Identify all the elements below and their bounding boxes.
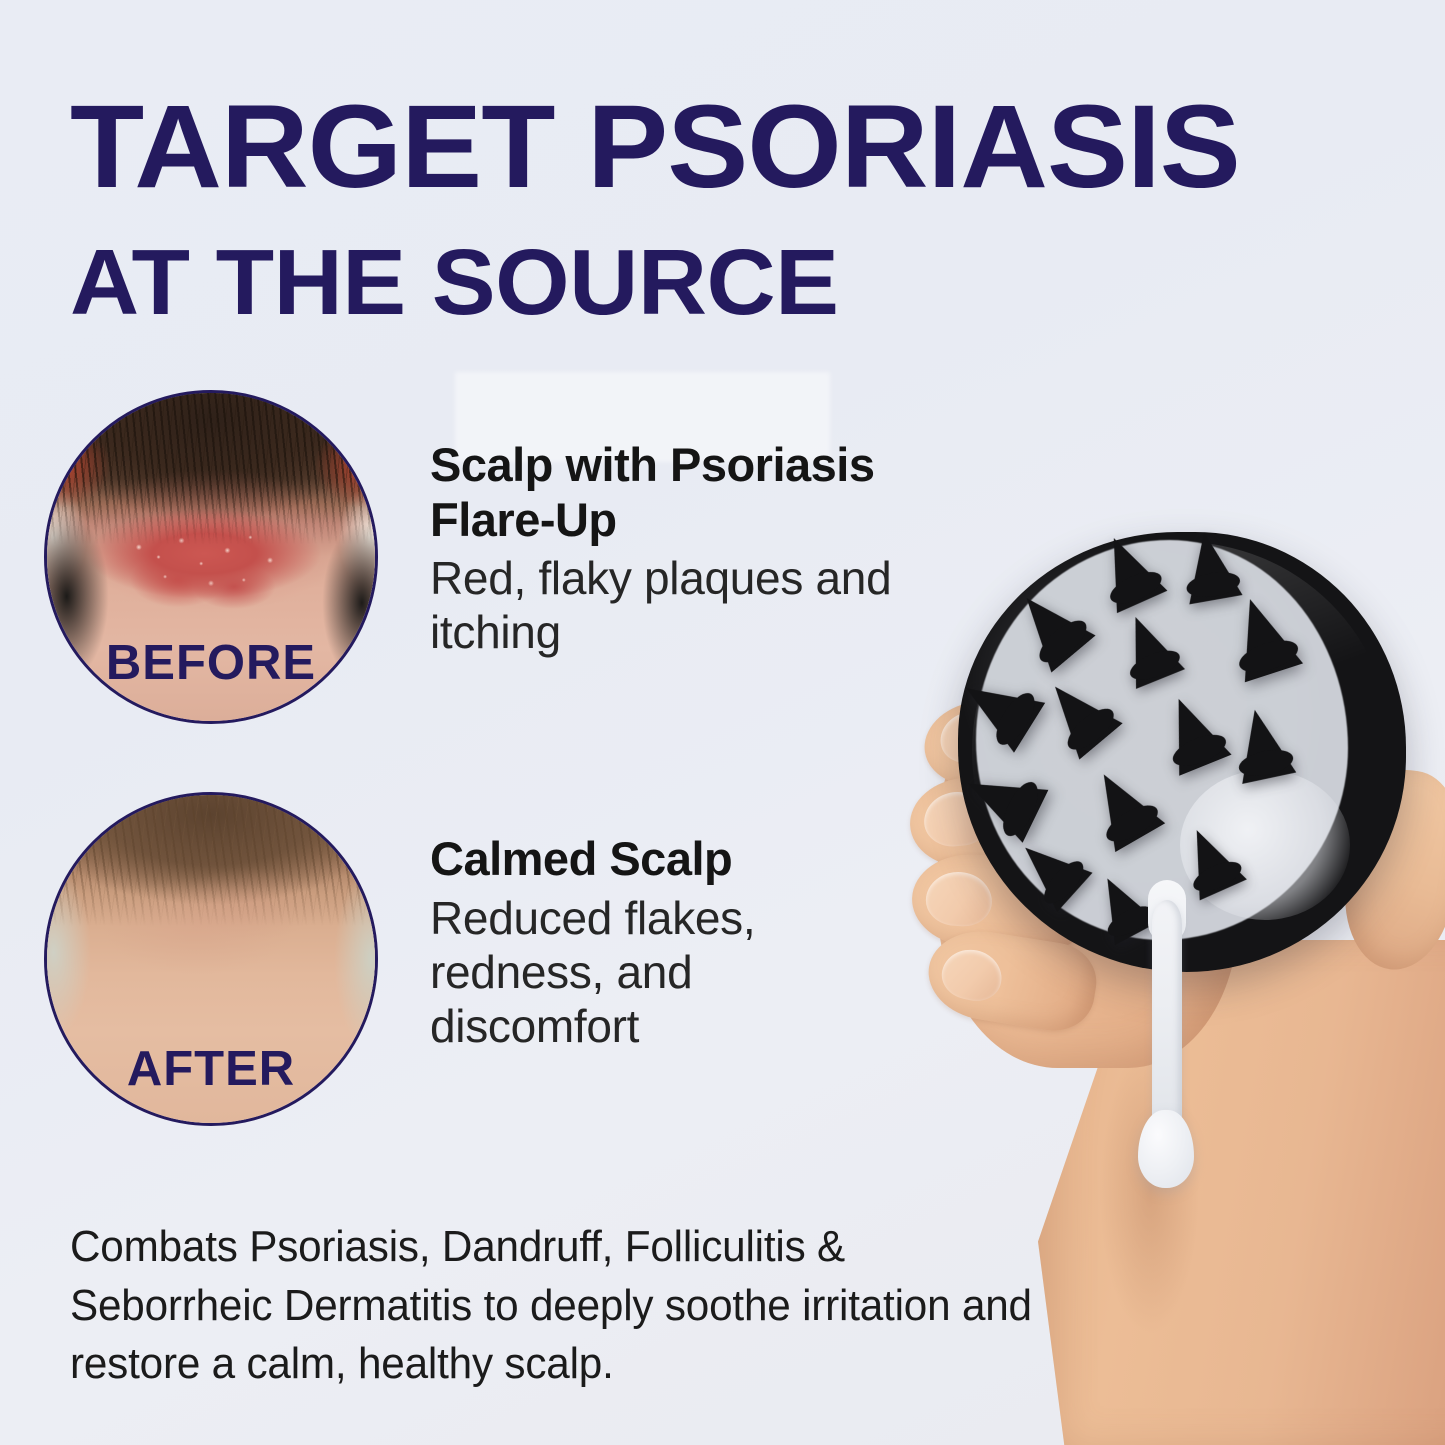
after-photo-circle: AFTER bbox=[44, 792, 378, 1126]
after-copy-body: Reduced flakes, redness, and discomfort bbox=[430, 891, 900, 1054]
after-copy-title: Calmed Scalp bbox=[430, 832, 900, 887]
headline-line-2: AT THE SOURCE bbox=[70, 230, 1430, 334]
before-badge-label: BEFORE bbox=[47, 635, 375, 691]
product-image bbox=[880, 470, 1445, 1445]
foam-drip-droplet bbox=[1138, 1110, 1194, 1188]
brush-bristle bbox=[1177, 528, 1242, 605]
headline: TARGET PSORIASIS AT THE SOURCE bbox=[70, 88, 1390, 334]
after-copy-block: Calmed Scalp Reduced flakes, redness, an… bbox=[430, 832, 900, 1053]
before-photo-circle: BEFORE bbox=[44, 390, 378, 724]
product-marketing-poster: TARGET PSORIASIS AT THE SOURCE BEFORE AF… bbox=[0, 0, 1445, 1445]
headline-line-1: TARGET PSORIASIS bbox=[70, 88, 1430, 206]
after-badge-label: AFTER bbox=[47, 1041, 375, 1097]
wrist-shadow bbox=[1090, 1030, 1210, 1430]
